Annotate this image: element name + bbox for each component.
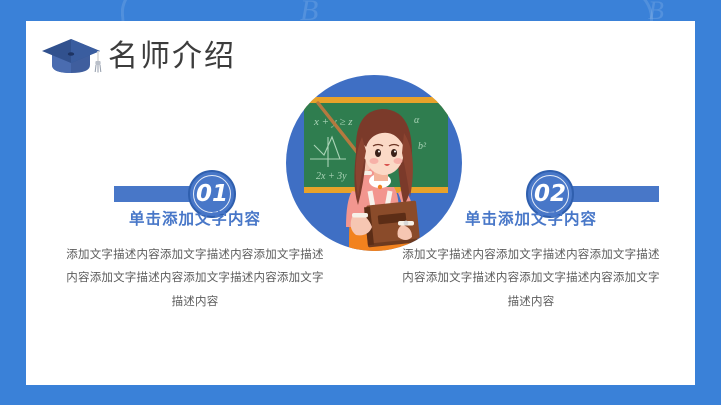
page-title: 名师介绍 (108, 42, 236, 72)
column-heading-02[interactable]: 单击添加文字内容 (386, 211, 676, 230)
content-column-02: 单击添加文字内容 添加文字描述内容添加文字描述内容添加文字描述内容添加文字描述内… (386, 211, 676, 314)
svg-text:2x + 3y: 2x + 3y (316, 171, 347, 182)
svg-text:b²: b² (418, 141, 427, 152)
svg-text:α: α (414, 115, 420, 126)
content-panel: 名师介绍 (26, 21, 695, 385)
slide-canvas: B B 名师介绍 (0, 0, 721, 405)
column-body-01[interactable]: 添加文字描述内容添加文字描述内容添加文字描述内容添加文字描述内容添加文字描述内容… (50, 244, 340, 315)
content-column-01: 单击添加文字内容 添加文字描述内容添加文字描述内容添加文字描述内容添加文字描述内… (50, 211, 340, 314)
column-body-02[interactable]: 添加文字描述内容添加文字描述内容添加文字描述内容添加文字描述内容添加文字描述内容… (386, 244, 676, 315)
column-heading-01[interactable]: 单击添加文字内容 (50, 211, 340, 230)
step-number-label-02: 02 (534, 181, 566, 207)
graduation-cap-icon (40, 35, 102, 79)
slide-header: 名师介绍 (40, 28, 236, 86)
step-number-label-01: 01 (196, 181, 228, 207)
